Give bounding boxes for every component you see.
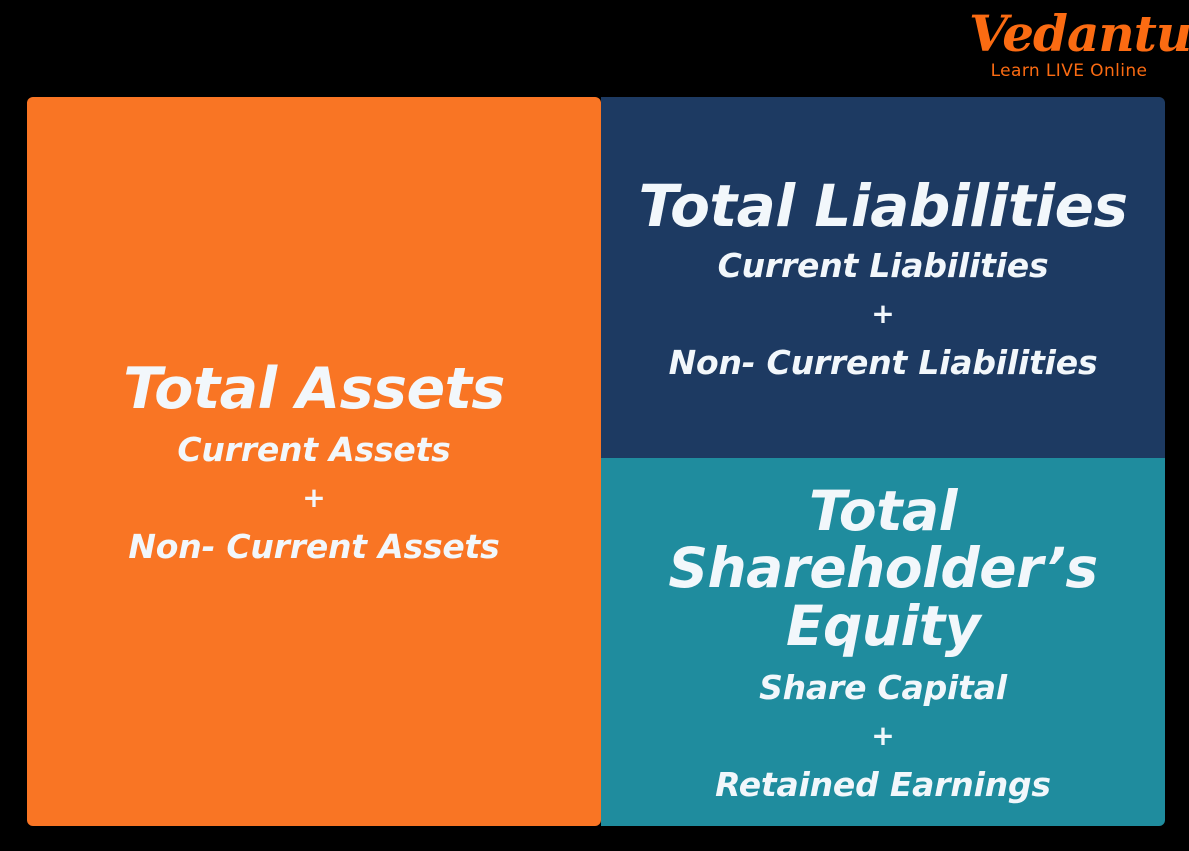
operator-plus-liabilities: + [669,300,1098,328]
panel-heading-total-shareholders-equity: Total Shareholder’s Equity [601,483,1165,655]
panel-components-total-assets: Current Assets + Non- Current Assets [116,433,511,563]
component-share-capital: Share Capital [715,671,1051,704]
panel-heading-total-liabilities: Total Liabilities [625,176,1142,236]
panel-total-assets: Total Assets Current Assets + Non- Curre… [27,97,601,826]
panel-components-total-shareholders-equity: Share Capital + Retained Earnings [703,671,1063,801]
vedantu-logo: Vedantu Learn LIVE Online [969,8,1169,80]
component-current-liabilities: Current Liabilities [669,249,1098,282]
component-non-current-liabilities: Non- Current Liabilities [669,346,1098,379]
operator-plus-equity: + [715,722,1051,750]
panel-components-total-liabilities: Current Liabilities + Non- Current Liabi… [657,249,1110,379]
brand-tagline: Learn LIVE Online [969,63,1169,80]
operator-plus-assets: + [128,484,499,512]
panel-total-liabilities: Total Liabilities Current Liabilities + … [601,97,1165,458]
panel-total-shareholders-equity: Total Shareholder’s Equity Share Capital… [601,458,1165,826]
component-retained-earnings: Retained Earnings [715,768,1051,801]
component-current-assets: Current Assets [128,433,499,466]
panel-heading-total-assets: Total Assets [109,360,519,419]
component-non-current-assets: Non- Current Assets [128,530,499,563]
brand-wordmark: Vedantu [969,8,1169,61]
diagram-canvas: Vedantu Learn LIVE Online Total Assets C… [0,0,1189,851]
